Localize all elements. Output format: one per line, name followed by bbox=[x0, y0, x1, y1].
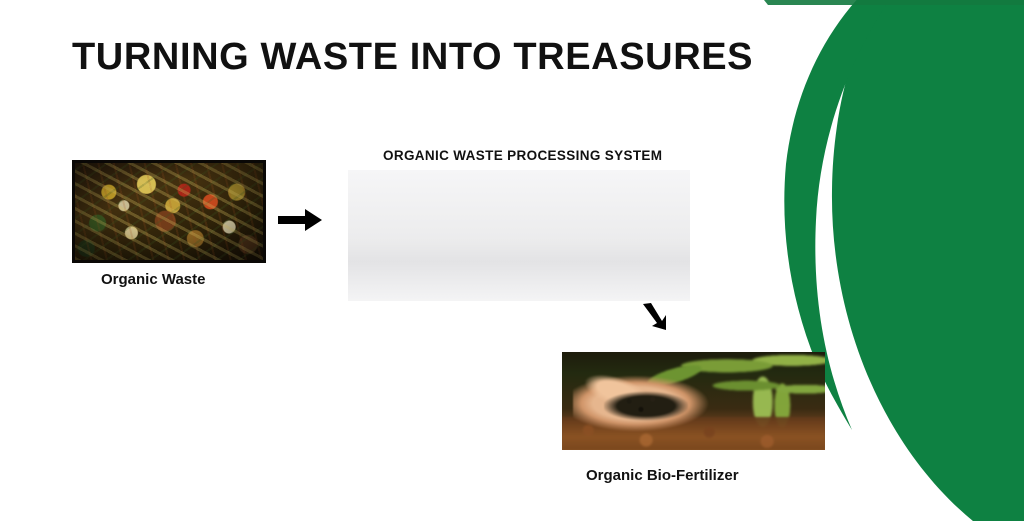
arrow-right-icon bbox=[277, 207, 323, 233]
arrow-down-right-icon bbox=[640, 302, 668, 332]
green-arc-main bbox=[832, 0, 1024, 521]
organic-waste-image-content bbox=[75, 163, 263, 260]
processing-system-caption: ORGANIC WASTE PROCESSING SYSTEM bbox=[383, 148, 662, 163]
bio-fertilizer-image-content bbox=[562, 352, 825, 450]
bio-fertilizer-caption: Organic Bio-Fertilizer bbox=[586, 467, 739, 484]
waste-texture-vignette bbox=[75, 163, 263, 260]
green-top-band bbox=[764, 0, 1024, 5]
organic-waste-caption: Organic Waste bbox=[101, 271, 205, 288]
cad-floor bbox=[348, 170, 690, 301]
processing-system-image-content bbox=[348, 170, 690, 301]
fertilizer-compost-granules bbox=[604, 389, 688, 422]
organic-waste-image bbox=[72, 160, 266, 263]
bio-fertilizer-image bbox=[562, 352, 825, 450]
processing-system-image bbox=[348, 170, 690, 301]
page-title: TURNING WASTE INTO TREASURES bbox=[72, 36, 753, 79]
slide-canvas: TURNING WASTE INTO TREASURES Organic Was… bbox=[0, 0, 1024, 521]
